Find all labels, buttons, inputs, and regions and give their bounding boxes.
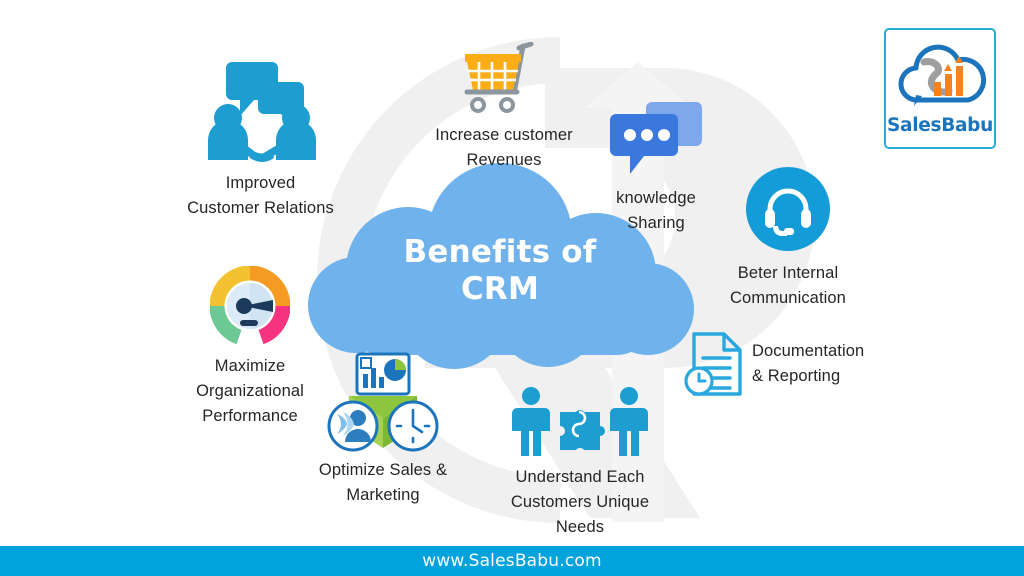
benefit-improved-customer-relations[interactable]: Improved Customer Relations [178, 58, 343, 221]
logo-wordmark: SalesBabu [886, 115, 994, 136]
center-title: Benefits of CRM [304, 234, 696, 308]
document-clock-icon [684, 330, 746, 398]
benefit-label: Improved Customer Relations [178, 171, 343, 221]
benefit-increase-customer-revenues[interactable]: Increase customer Revenues [418, 42, 590, 173]
benefit-label: Increase customer Revenues [418, 123, 590, 173]
benefit-documentation-reporting[interactable]: Documentation & Reporting [684, 330, 882, 398]
cube-chart-clock-person-icon [327, 352, 439, 452]
salesbabu-logo[interactable]: SalesBabu [884, 28, 996, 149]
benefit-label: Beter Internal Communication [698, 261, 878, 311]
cloud-bar-chart-logo-icon [888, 36, 992, 114]
footer-website-text[interactable]: www.SalesBabu.com [422, 551, 602, 571]
chat-bubbles-icon [608, 100, 704, 178]
benefit-label: Understand Each Customers Unique Needs [492, 465, 668, 539]
gauge-speedometer-icon [210, 266, 290, 346]
people-puzzle-icon [505, 386, 655, 458]
benefit-understand-customers-needs[interactable]: Understand Each Customers Unique Needs [492, 386, 668, 539]
benefit-label: Maximize Organizational Performance [172, 354, 328, 428]
handshake-speech-bubbles-icon [202, 58, 320, 163]
benefit-label: Documentation & Reporting [752, 339, 882, 389]
shopping-cart-icon [461, 42, 547, 114]
infographic-canvas: Benefits of CRM Improved Customer Relati… [0, 0, 1024, 576]
footer-bar: www.SalesBabu.com [0, 546, 1024, 576]
benefit-label: Optimize Sales & Marketing [294, 458, 472, 508]
benefit-better-internal-communication[interactable]: Beter Internal Communication [698, 167, 878, 311]
headset-circle-icon [746, 167, 830, 251]
